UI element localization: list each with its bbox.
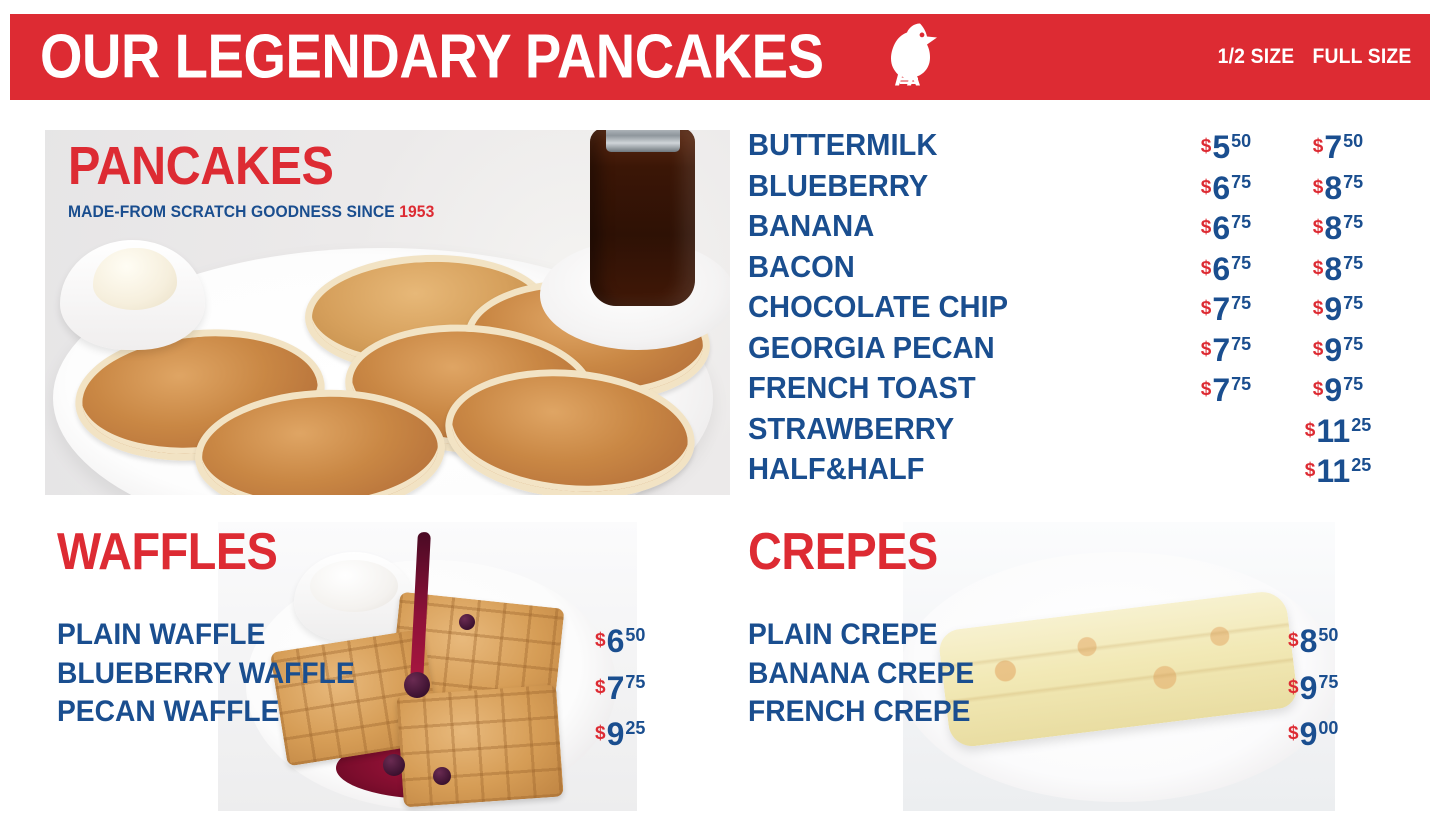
price-dollars: 11 xyxy=(1316,413,1350,449)
menu-item-price-full: $1125 xyxy=(1278,453,1398,490)
menu-item-name: PLAIN WAFFLE xyxy=(57,616,355,655)
menu-item-name: BUTTERMILK xyxy=(748,128,937,162)
menu-item-price-full: $1125 xyxy=(1278,413,1398,450)
menu-item-name: CHOCOLATE CHIP xyxy=(748,290,1008,324)
blueberry xyxy=(459,614,475,630)
price-dollars: 9 xyxy=(1324,372,1342,408)
price-cents: 50 xyxy=(1343,131,1363,151)
menu-item-price: $775 xyxy=(595,663,645,710)
menu-row: HALF&HALF$1125 xyxy=(748,452,1428,493)
price-cents: 75 xyxy=(1318,672,1338,692)
price-cents: 75 xyxy=(1343,172,1363,192)
full-size-header: FULL SIZE xyxy=(1312,45,1411,69)
menu-item-price-half: $550 xyxy=(1166,129,1286,166)
pancakes-title: PANCAKES xyxy=(68,139,426,193)
currency-symbol: $ xyxy=(1288,677,1299,698)
menu-row: BLUEBERRY$675$875 xyxy=(748,169,1428,210)
blueberry xyxy=(433,767,451,785)
menu-row: BACON$675$875 xyxy=(748,250,1428,291)
price-cents: 75 xyxy=(1231,293,1251,313)
currency-symbol: $ xyxy=(1313,339,1324,360)
price-cents: 75 xyxy=(1343,253,1363,273)
menu-item-price-full: $875 xyxy=(1278,210,1398,247)
currency-symbol: $ xyxy=(1305,420,1316,441)
price-cents: 25 xyxy=(1351,455,1371,475)
price-cents: 75 xyxy=(1343,334,1363,354)
menu-item-price: $900 xyxy=(1288,709,1338,756)
currency-symbol: $ xyxy=(1313,177,1324,198)
price-dollars: 8 xyxy=(1300,623,1318,659)
menu-item-price-half: $775 xyxy=(1166,372,1286,409)
price-cents: 75 xyxy=(1231,253,1251,273)
menu-row: FRENCH TOAST$775$975 xyxy=(748,371,1428,412)
menu-item-name: STRAWBERRY xyxy=(748,412,954,446)
half-size-header: 1/2 SIZE xyxy=(1208,45,1304,69)
menu-item-price: $850 xyxy=(1288,616,1338,663)
price-dollars: 6 xyxy=(1212,170,1230,206)
price-dollars: 11 xyxy=(1316,453,1350,489)
pancakes-tagline: MADE-FROM SCRATCH GOODNESS SINCE 1953 xyxy=(68,202,434,222)
waffles-item-names: PLAIN WAFFLEBLUEBERRY WAFFLEPECAN WAFFLE xyxy=(57,616,374,732)
currency-symbol: $ xyxy=(1201,258,1212,279)
currency-symbol: $ xyxy=(1201,298,1212,319)
blueberry xyxy=(383,754,405,776)
price-dollars: 9 xyxy=(1324,332,1342,368)
menu-item-name: HALF&HALF xyxy=(748,452,924,486)
menu-row: BANANA$675$875 xyxy=(748,209,1428,250)
menu-item-price-full: $975 xyxy=(1278,332,1398,369)
menu-item-name: BLUEBERRY WAFFLE xyxy=(57,655,355,694)
menu-item-price-half: $675 xyxy=(1166,251,1286,288)
crepes-heading-block: CREPES xyxy=(748,526,959,578)
price-cents: 50 xyxy=(1231,131,1251,151)
currency-symbol: $ xyxy=(595,723,606,744)
syrup-jar-lid xyxy=(606,130,680,152)
price-dollars: 6 xyxy=(1212,210,1230,246)
price-cents: 25 xyxy=(625,718,645,738)
page-title: OUR LEGENDARY PANCAKES xyxy=(40,20,940,95)
price-dollars: 8 xyxy=(1324,210,1342,246)
menu-row: GEORGIA PECAN$775$975 xyxy=(748,331,1428,372)
currency-symbol: $ xyxy=(1313,298,1324,319)
syrup-jar xyxy=(590,130,695,306)
menu-item-name: BLUEBERRY xyxy=(748,169,928,203)
price-dollars: 7 xyxy=(1212,291,1230,327)
currency-symbol: $ xyxy=(1288,723,1299,744)
price-cents: 00 xyxy=(1318,718,1338,738)
currency-symbol: $ xyxy=(1201,136,1212,157)
size-column-headers: 1/2 SIZE FULL SIZE xyxy=(1204,45,1416,69)
price-dollars: 7 xyxy=(1212,332,1230,368)
currency-symbol: $ xyxy=(1313,136,1324,157)
price-cents: 75 xyxy=(1343,293,1363,313)
menu-item-price-full: $975 xyxy=(1278,372,1398,409)
menu-item-price: $925 xyxy=(595,709,645,756)
price-dollars: 7 xyxy=(607,670,625,706)
bird-icon xyxy=(882,20,940,95)
menu-item-price: $650 xyxy=(595,616,645,663)
crepes-title: CREPES xyxy=(748,526,938,578)
currency-symbol: $ xyxy=(1201,177,1212,198)
price-dollars: 9 xyxy=(1324,291,1342,327)
price-dollars: 9 xyxy=(607,716,625,752)
currency-symbol: $ xyxy=(1313,258,1324,279)
waffles-item-prices: $650$775$925 xyxy=(595,616,645,756)
price-dollars: 5 xyxy=(1212,129,1230,165)
menu-item-price-full: $875 xyxy=(1278,251,1398,288)
menu-item-price-full: $975 xyxy=(1278,291,1398,328)
price-dollars: 6 xyxy=(607,623,625,659)
waffles-heading-block: WAFFLES xyxy=(57,526,302,578)
menu-item-price-half: $675 xyxy=(1166,210,1286,247)
menu-item-price-full: $750 xyxy=(1278,129,1398,166)
blueberry xyxy=(404,672,430,698)
price-cents: 75 xyxy=(625,672,645,692)
price-dollars: 7 xyxy=(1324,129,1342,165)
butter-bowl xyxy=(60,240,205,350)
price-cents: 75 xyxy=(1231,334,1251,354)
currency-symbol: $ xyxy=(1201,217,1212,238)
price-cents: 75 xyxy=(1343,212,1363,232)
header-bar: OUR LEGENDARY PANCAKES 1/2 SIZE FULL SIZ… xyxy=(10,14,1430,100)
price-cents: 75 xyxy=(1231,212,1251,232)
menu-item-name: GEORGIA PECAN xyxy=(748,331,995,365)
menu-item-price: $975 xyxy=(1288,663,1338,710)
currency-symbol: $ xyxy=(1305,460,1316,481)
menu-item-name: BANANA xyxy=(748,209,874,243)
pancakes-tagline-main: MADE-FROM SCRATCH GOODNESS SINCE xyxy=(68,202,395,221)
menu-item-price-half: $675 xyxy=(1166,170,1286,207)
price-cents: 50 xyxy=(625,625,645,645)
menu-row: CHOCOLATE CHIP$775$975 xyxy=(748,290,1428,331)
crepes-item-prices: $850$975$900 xyxy=(1288,616,1338,756)
price-dollars: 9 xyxy=(1300,670,1318,706)
pancakes-tagline-year: 1953 xyxy=(399,202,434,221)
menu-row: BUTTERMILK$550$750 xyxy=(748,128,1428,169)
price-cents: 75 xyxy=(1231,374,1251,394)
price-dollars: 8 xyxy=(1324,170,1342,206)
waffles-title: WAFFLES xyxy=(57,526,277,578)
currency-symbol: $ xyxy=(1313,379,1324,400)
price-dollars: 9 xyxy=(1300,716,1318,752)
pancakes-price-list: BUTTERMILK$550$750BLUEBERRY$675$875BANAN… xyxy=(748,128,1428,493)
menu-item-name: PECAN WAFFLE xyxy=(57,693,355,732)
price-dollars: 8 xyxy=(1324,251,1342,287)
price-dollars: 7 xyxy=(1212,372,1230,408)
price-cents: 25 xyxy=(1351,415,1371,435)
menu-item-name: BANANA CREPE xyxy=(748,655,974,694)
price-dollars: 6 xyxy=(1212,251,1230,287)
page-title-text: OUR LEGENDARY PANCAKES xyxy=(40,26,824,88)
currency-symbol: $ xyxy=(1288,630,1299,651)
currency-symbol: $ xyxy=(595,630,606,651)
menu-item-name: FRENCH CREPE xyxy=(748,693,974,732)
menu-item-name: PLAIN CREPE xyxy=(748,616,974,655)
menu-item-price-half: $775 xyxy=(1166,291,1286,328)
currency-symbol: $ xyxy=(1201,379,1212,400)
menu-item-price-full: $875 xyxy=(1278,170,1398,207)
menu-item-name: FRENCH TOAST xyxy=(748,371,976,405)
whipped-cream xyxy=(310,560,398,612)
price-cents: 50 xyxy=(1318,625,1338,645)
price-cents: 75 xyxy=(1231,172,1251,192)
pancakes-heading-block: PANCAKES MADE-FROM SCRATCH GOODNESS SINC… xyxy=(68,139,466,222)
menu-row: STRAWBERRY$1125 xyxy=(748,412,1428,453)
waffle-wedge xyxy=(396,685,563,808)
butter-scoop xyxy=(93,248,177,310)
currency-symbol: $ xyxy=(595,677,606,698)
currency-symbol: $ xyxy=(1201,339,1212,360)
price-cents: 75 xyxy=(1343,374,1363,394)
menu-item-name: BACON xyxy=(748,250,855,284)
crepes-item-names: PLAIN CREPEBANANA CREPEFRENCH CREPE xyxy=(748,616,989,732)
currency-symbol: $ xyxy=(1313,217,1324,238)
menu-item-price-half: $775 xyxy=(1166,332,1286,369)
